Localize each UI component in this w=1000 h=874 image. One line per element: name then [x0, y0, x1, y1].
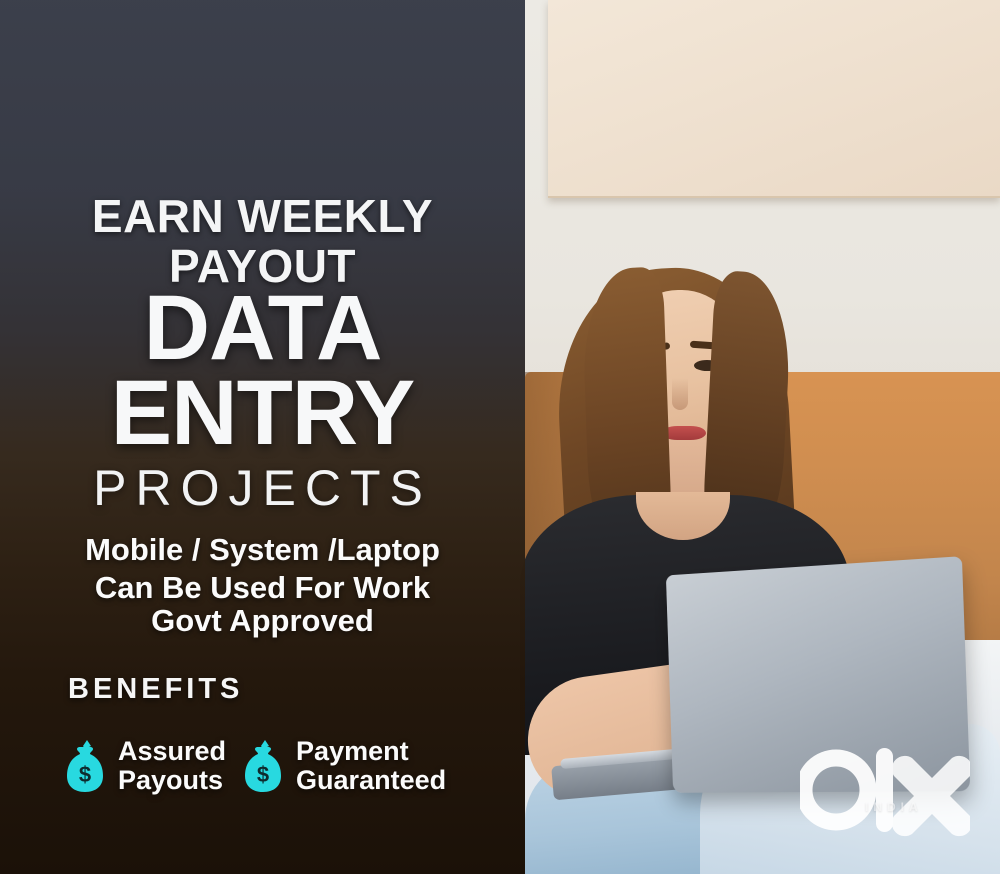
headline-entry: ENTRY — [0, 371, 525, 456]
benefit-label-line-1: Payment — [296, 736, 409, 766]
benefit-label: Payment Guaranteed — [296, 737, 446, 794]
benefit-item-assured-payouts: $ Assured Payouts — [62, 737, 226, 794]
headline-data: DATA — [0, 286, 525, 371]
money-bag-icon: $ — [240, 738, 286, 794]
svg-text:$: $ — [79, 762, 91, 787]
wall-art-panel — [548, 0, 1000, 198]
eyebrow-line-1: EARN WEEKLY — [0, 193, 525, 240]
svg-text:$: $ — [257, 762, 269, 787]
money-bag-icon: $ — [62, 738, 108, 794]
benefit-label-line-2: Payouts — [118, 765, 223, 795]
woman-nose — [672, 378, 688, 410]
benefit-label-line-1: Assured — [118, 736, 226, 766]
subtext-line-2: Can Be Used For Work — [0, 571, 525, 604]
benefit-label: Assured Payouts — [118, 737, 226, 794]
benefits-heading: BENEFITS — [68, 673, 243, 706]
benefit-item-payment-guaranteed: $ Payment Guaranteed — [240, 737, 446, 794]
benefits-list: $ Assured Payouts $ Payment — [62, 737, 532, 794]
subtext-line-3: Govt Approved — [0, 604, 525, 637]
subtext-line-1: Mobile / System /Laptop — [0, 533, 525, 566]
olx-region-label: INDIA — [865, 800, 923, 814]
olx-logo-watermark — [800, 742, 970, 838]
ad-copy: EARN WEEKLY PAYOUT DATA ENTRY PROJECTS M… — [0, 0, 525, 874]
advertisement-banner: EARN WEEKLY PAYOUT DATA ENTRY PROJECTS M… — [0, 0, 1000, 874]
benefit-label-line-2: Guaranteed — [296, 765, 446, 795]
headline-projects: PROJECTS — [0, 459, 525, 517]
